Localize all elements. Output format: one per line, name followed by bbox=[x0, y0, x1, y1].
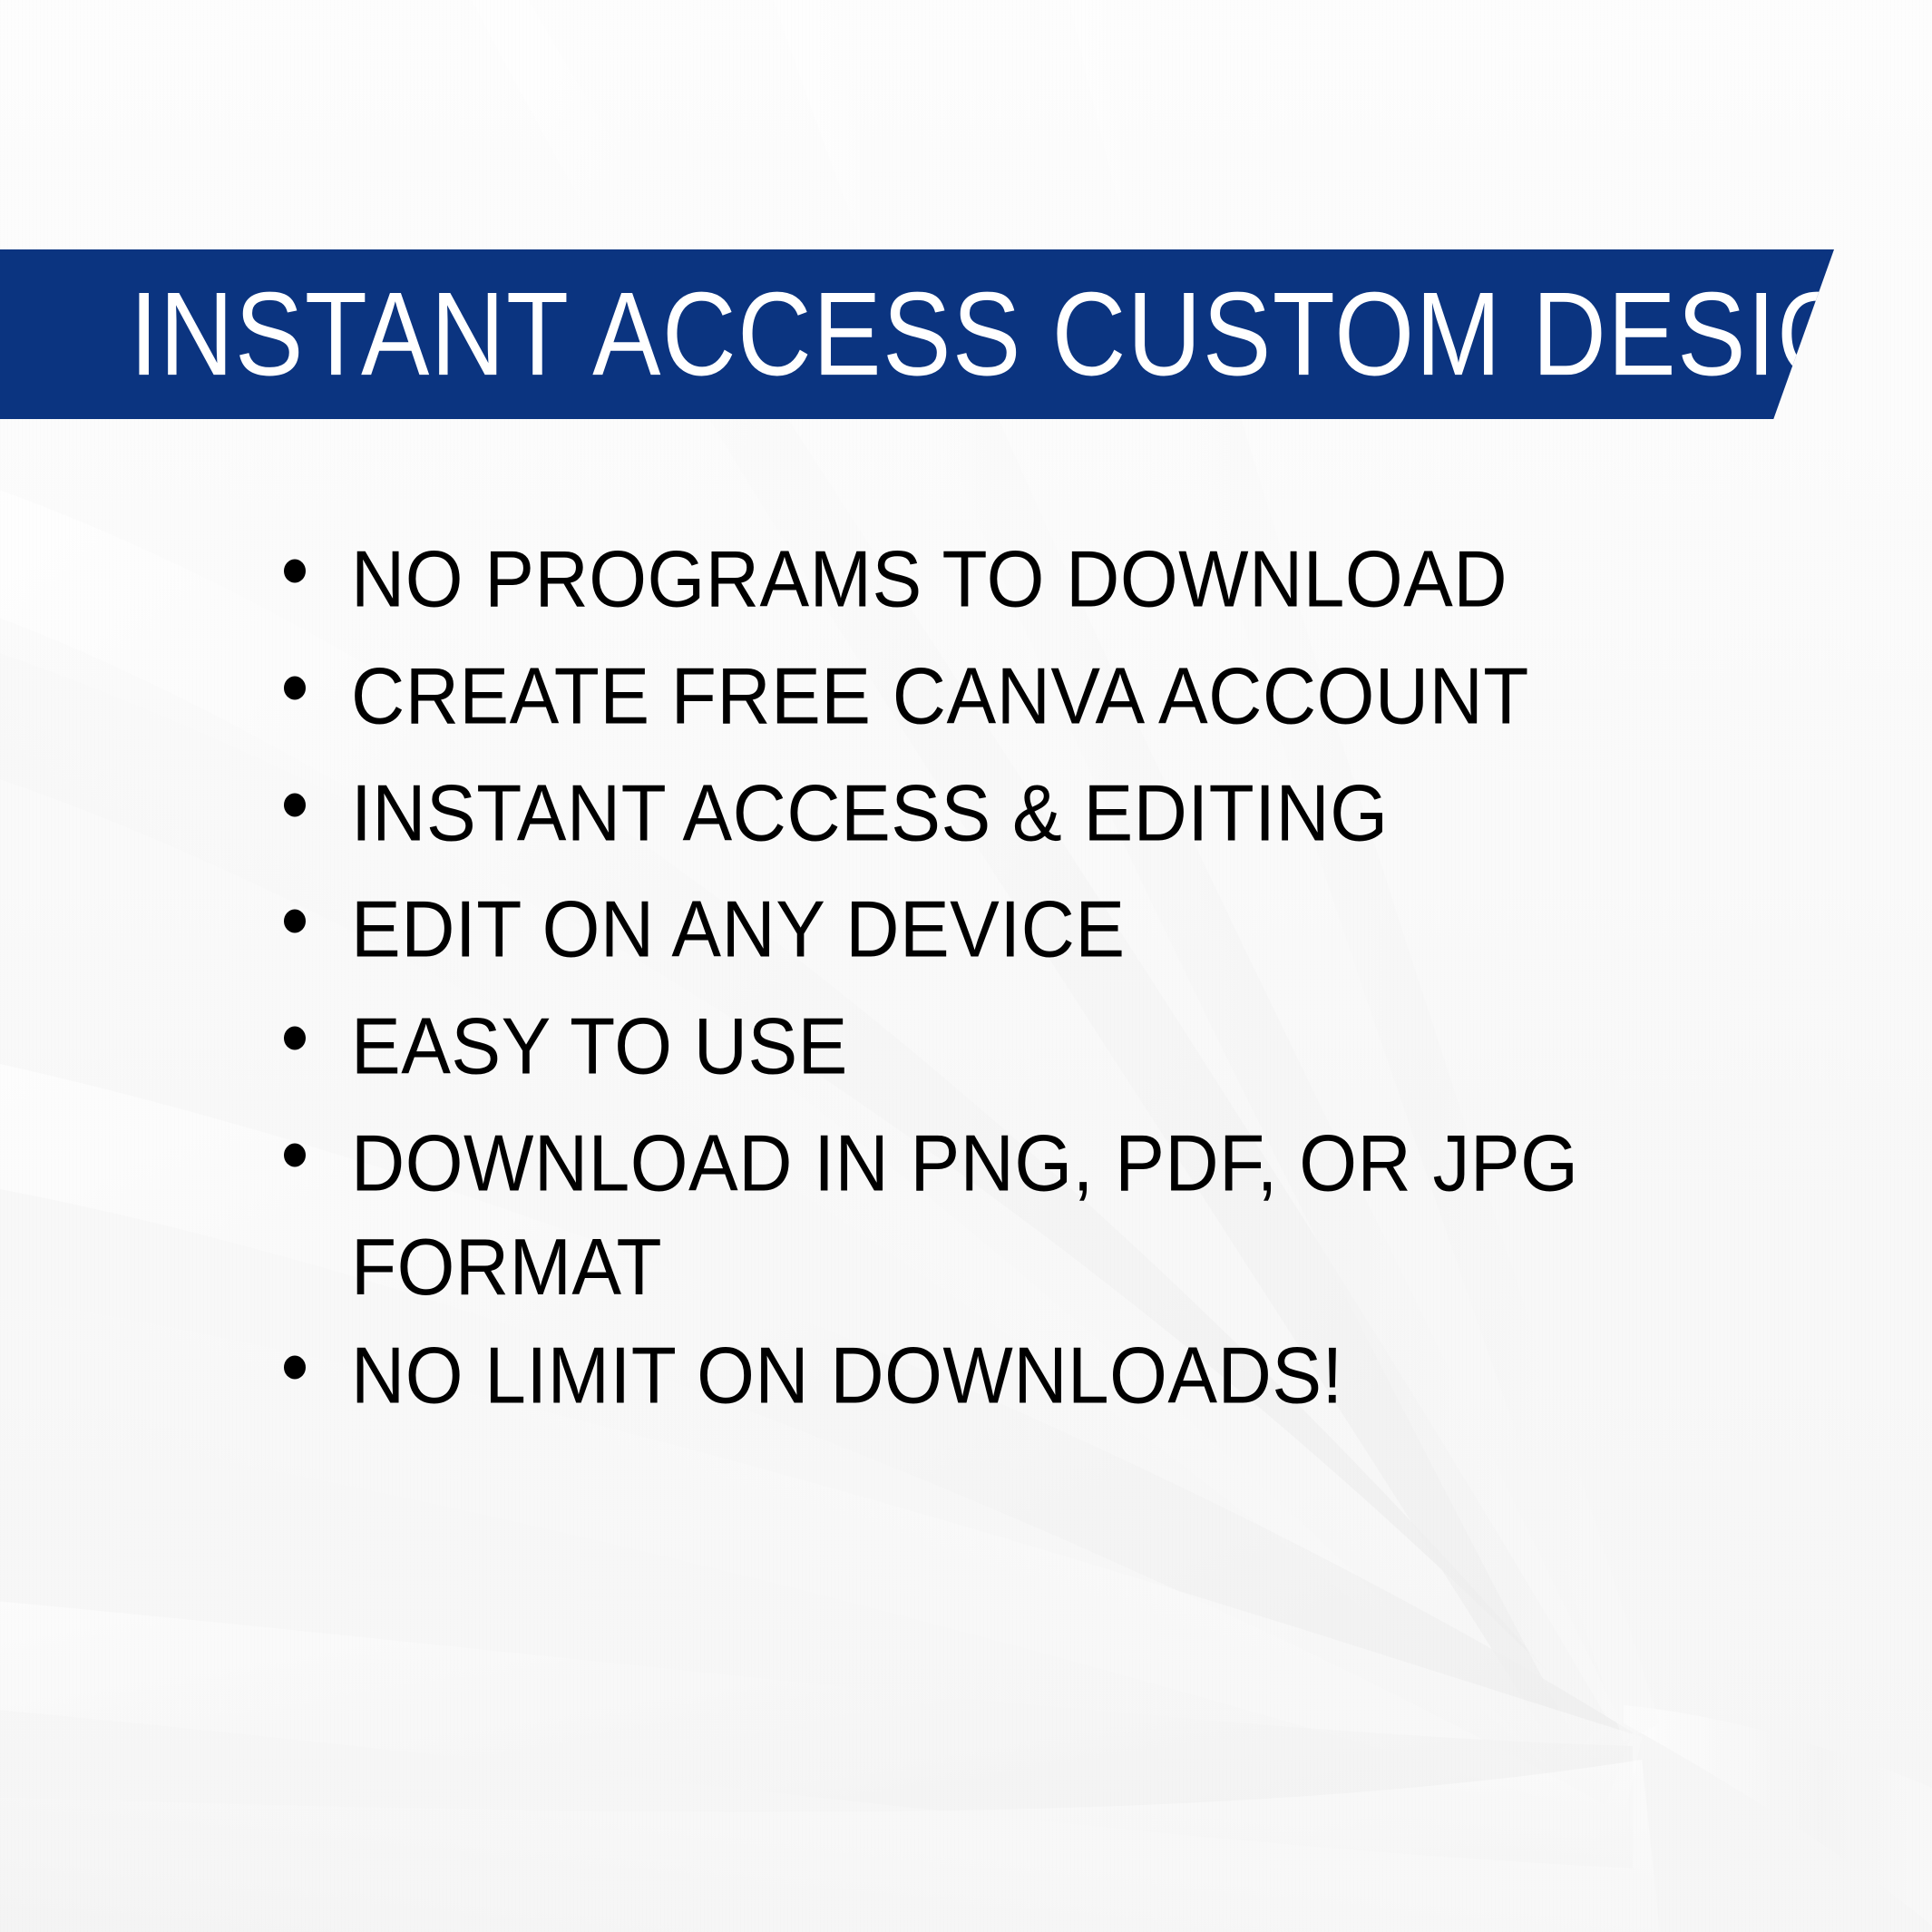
header-banner: INSTANT ACCESS CUSTOM DESIGNS bbox=[0, 249, 1834, 419]
list-item: NO LIMIT ON DOWNLOADS! bbox=[277, 1324, 1728, 1428]
list-item: DOWNLOAD IN PNG, PDF, OR JPG FORMAT bbox=[277, 1112, 1728, 1319]
list-item: CREATE FREE CANVA ACCOUNT bbox=[277, 645, 1728, 748]
bullet-dot-icon bbox=[284, 560, 306, 583]
list-item-label: EASY TO USE bbox=[351, 995, 1728, 1098]
list-item-label: NO PROGRAMS TO DOWNLOAD bbox=[351, 528, 1728, 631]
list-item: NO PROGRAMS TO DOWNLOAD bbox=[277, 528, 1728, 631]
bullet-dot-icon bbox=[284, 910, 306, 933]
bullet-dot-icon bbox=[284, 1143, 306, 1166]
bullet-dot-icon bbox=[284, 676, 306, 699]
list-item-label: NO LIMIT ON DOWNLOADS! bbox=[351, 1324, 1728, 1428]
bullet-dot-icon bbox=[284, 1027, 306, 1050]
list-item: EDIT ON ANY DEVICE bbox=[277, 878, 1728, 981]
list-item-label: EDIT ON ANY DEVICE bbox=[351, 878, 1728, 981]
feature-list: NO PROGRAMS TO DOWNLOAD CREATE FREE CANV… bbox=[277, 528, 1728, 1420]
list-item-label: INSTANT ACCESS & EDITING bbox=[351, 762, 1728, 865]
list-item-label: CREATE FREE CANVA ACCOUNT bbox=[351, 645, 1728, 748]
banner-title: INSTANT ACCESS CUSTOM DESIGNS bbox=[130, 275, 1932, 394]
bullet-dot-icon bbox=[284, 793, 306, 816]
list-item: INSTANT ACCESS & EDITING bbox=[277, 762, 1728, 865]
list-item: EASY TO USE bbox=[277, 995, 1728, 1098]
bullet-dot-icon bbox=[284, 1356, 306, 1380]
list-item-label: DOWNLOAD IN PNG, PDF, OR JPG FORMAT bbox=[351, 1112, 1728, 1319]
promo-graphic-canvas: INSTANT ACCESS CUSTOM DESIGNS NO PROGRAM… bbox=[0, 0, 1932, 1932]
